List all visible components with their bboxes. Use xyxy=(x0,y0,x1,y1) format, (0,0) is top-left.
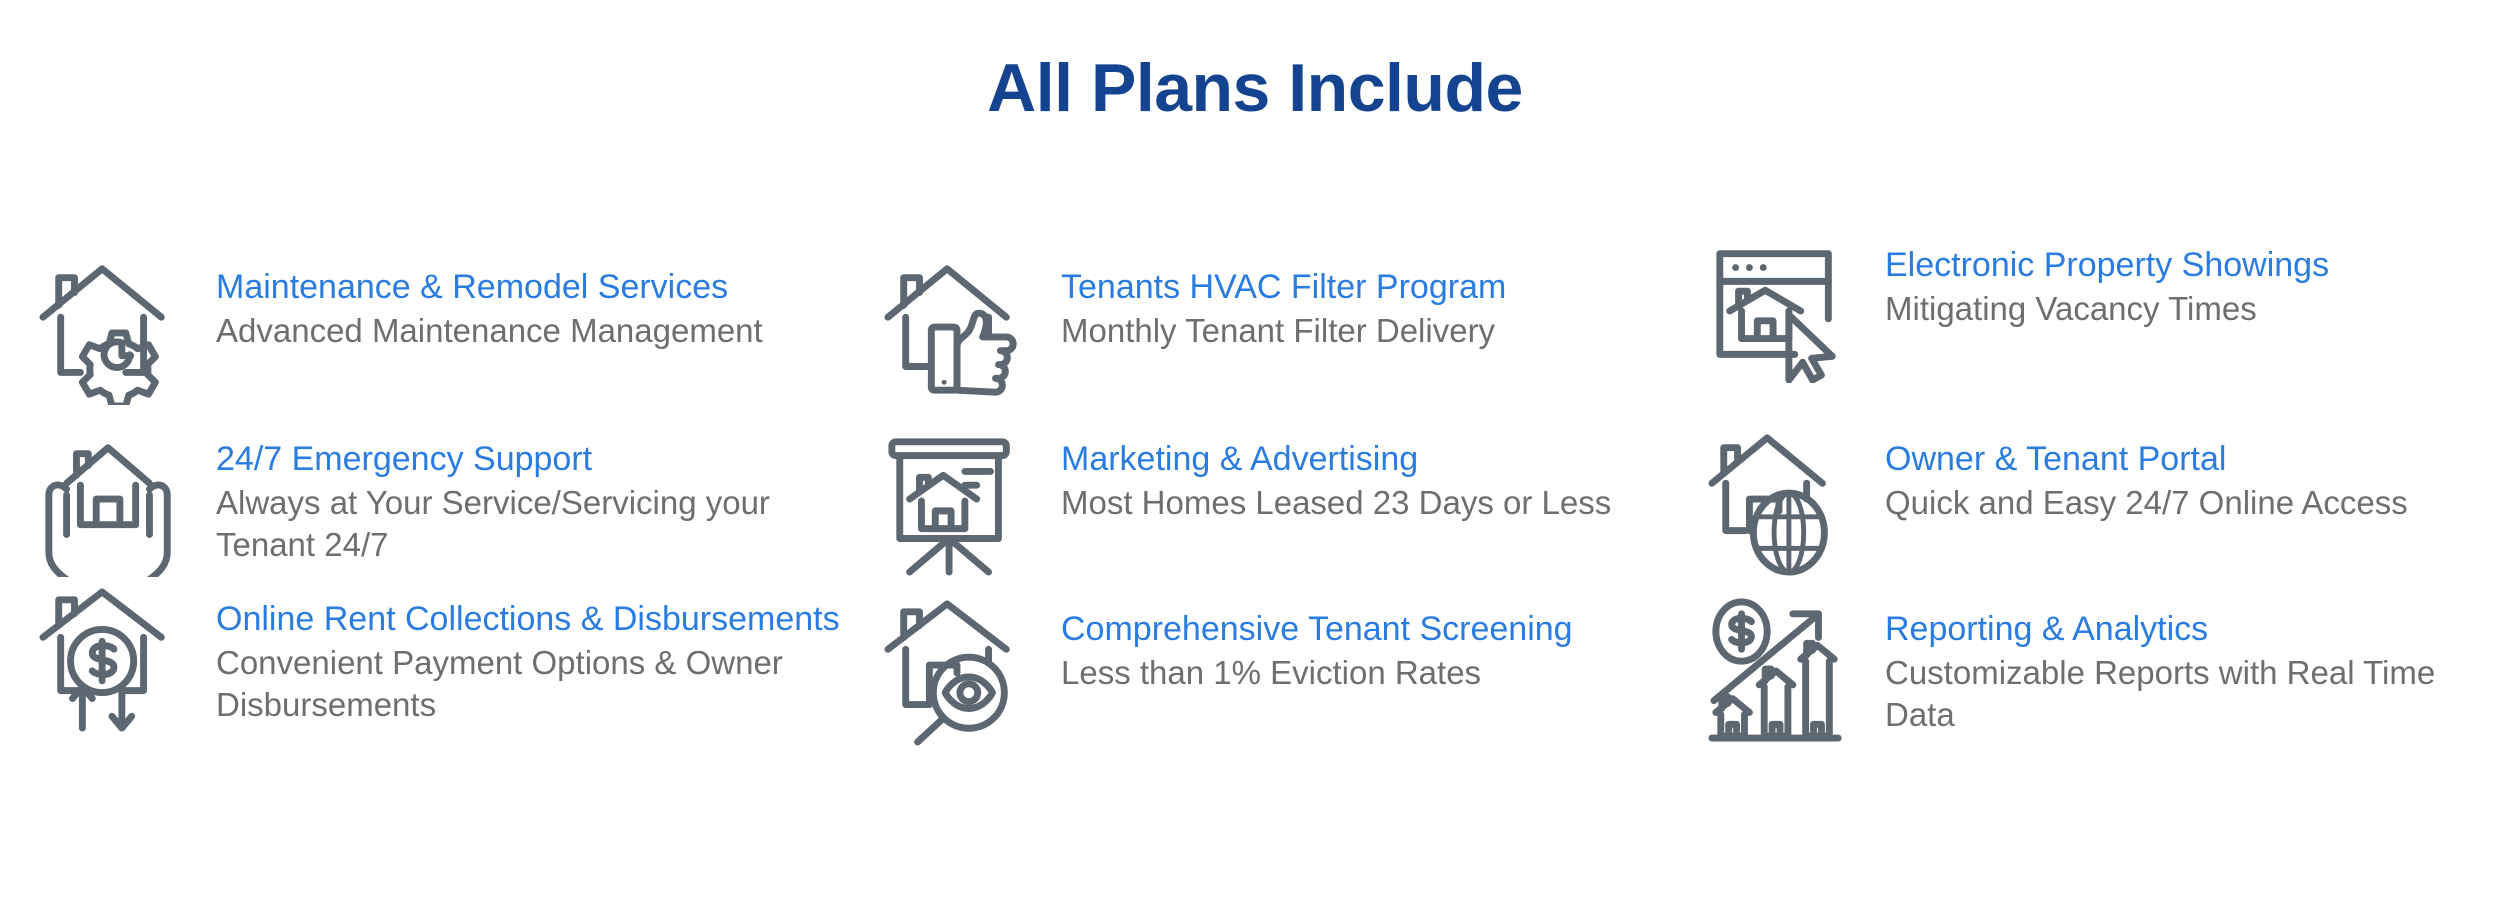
feature-title[interactable]: Comprehensive Tenant Screening xyxy=(1061,609,1685,650)
feature-item-tenants-hvac-filter-program[interactable]: Tenants HVAC Filter Program Monthly Tena… xyxy=(845,255,1685,407)
feature-item-24-7-emergency-support[interactable]: 24/7 Emergency Support Always at Your Se… xyxy=(0,427,845,579)
feature-title[interactable]: Online Rent Collections & Disbursements xyxy=(216,599,845,640)
feature-text: Tenants HVAC Filter Program Monthly Tena… xyxy=(1061,255,1685,352)
feature-subtitle: Mitigating Vacancy Times xyxy=(1885,288,2510,330)
house-thumbs-up-filter-icon xyxy=(881,255,1031,407)
feature-text: 24/7 Emergency Support Always at Your Se… xyxy=(216,427,845,566)
house-magnifier-eye-icon xyxy=(881,597,1031,749)
feature-title[interactable]: Marketing & Advertising xyxy=(1061,439,1685,480)
dollar-growth-chart-houses-icon xyxy=(1705,597,1855,749)
feature-subtitle: Advanced Maintenance Management xyxy=(216,310,845,352)
presentation-board-house-icon xyxy=(881,427,1031,579)
feature-title[interactable]: Owner & Tenant Portal xyxy=(1885,439,2510,480)
feature-title[interactable]: 24/7 Emergency Support xyxy=(216,439,845,480)
feature-subtitle: Monthly Tenant Filter Delivery xyxy=(1061,310,1685,352)
feature-text: Maintenance & Remodel Services Advanced … xyxy=(216,255,845,352)
page-title: All Plans Include xyxy=(0,54,2510,122)
feature-item-comprehensive-tenant-screening[interactable]: Comprehensive Tenant Screening Less than… xyxy=(845,597,1685,749)
feature-title[interactable]: Maintenance & Remodel Services xyxy=(216,267,845,308)
feature-item-reporting-analytics[interactable]: Reporting & Analytics Customizable Repor… xyxy=(1685,597,2510,749)
feature-title[interactable]: Electronic Property Showings xyxy=(1885,245,2510,286)
feature-subtitle: Convenient Payment Options & Owner Disbu… xyxy=(216,642,845,725)
feature-subtitle: Quick and Easy 24/7 Online Access xyxy=(1885,482,2510,524)
feature-title[interactable]: Reporting & Analytics xyxy=(1885,609,2510,650)
feature-text: Online Rent Collections & Disbursements … xyxy=(216,587,845,726)
feature-text: Owner & Tenant Portal Quick and Easy 24/… xyxy=(1885,427,2510,524)
feature-item-owner-tenant-portal[interactable]: Owner & Tenant Portal Quick and Easy 24/… xyxy=(1685,427,2510,579)
hands-holding-house-icon xyxy=(36,427,186,579)
feature-title[interactable]: Tenants HVAC Filter Program xyxy=(1061,267,1685,308)
feature-item-online-rent-collections-disbursements[interactable]: Online Rent Collections & Disbursements … xyxy=(0,587,845,749)
house-globe-icon xyxy=(1705,427,1855,579)
feature-subtitle: Always at Your Service/Servicing your Te… xyxy=(216,482,845,565)
all-plans-include-section: All Plans Include Maintenance & Remodel … xyxy=(0,0,2510,904)
feature-item-electronic-property-showings[interactable]: Electronic Property Showings Mitigating … xyxy=(1685,233,2510,407)
feature-subtitle: Most Homes Leased 23 Days or Less xyxy=(1061,482,1685,524)
house-dollar-arrows-icon xyxy=(36,587,186,739)
feature-item-maintenance-remodel-services[interactable]: Maintenance & Remodel Services Advanced … xyxy=(0,255,845,407)
features-grid: Maintenance & Remodel Services Advanced … xyxy=(0,255,2510,749)
browser-window-house-cursor-icon xyxy=(1705,233,1855,385)
feature-text: Reporting & Analytics Customizable Repor… xyxy=(1885,597,2510,736)
feature-subtitle: Customizable Reports with Real Time Data xyxy=(1885,652,2510,735)
feature-text: Comprehensive Tenant Screening Less than… xyxy=(1061,597,1685,694)
feature-text: Electronic Property Showings Mitigating … xyxy=(1885,233,2510,330)
feature-text: Marketing & Advertising Most Homes Lease… xyxy=(1061,427,1685,524)
house-gear-icon xyxy=(36,255,186,407)
feature-item-marketing-advertising[interactable]: Marketing & Advertising Most Homes Lease… xyxy=(845,427,1685,579)
feature-subtitle: Less than 1% Eviction Rates xyxy=(1061,652,1685,694)
